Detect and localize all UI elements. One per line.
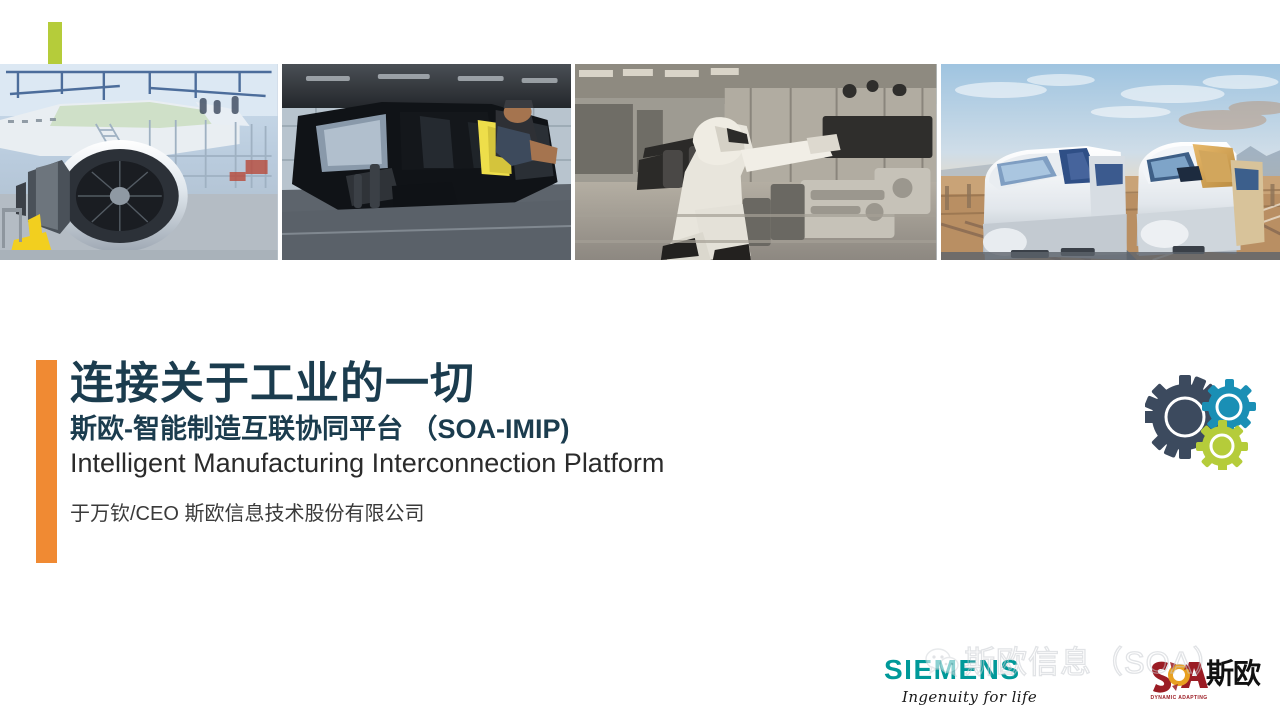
title-block: 连接关于工业的一切 斯欧-智能制造互联协同平台 （SOA-IMIP) Intel… xyxy=(70,360,1110,527)
subtitle-english: Intelligent Manufacturing Interconnectio… xyxy=(70,447,1110,479)
green-accent-tick xyxy=(48,22,62,68)
hero-panel-electronics-cleanroom xyxy=(575,64,936,260)
hero-panel-rail-high-speed-train xyxy=(941,64,1280,260)
hero-image-band xyxy=(0,64,1280,260)
hero-panel-automotive-assembly xyxy=(282,64,572,260)
soa-chinese-name: 斯欧 xyxy=(1206,660,1260,688)
siemens-tagline: Ingenuity for life xyxy=(902,688,1060,706)
soa-mark-subtitle: DYNAMIC ADAPTING xyxy=(1150,695,1207,701)
slide-root: 连接关于工业的一切 斯欧-智能制造互联协同平台 （SOA-IMIP) Intel… xyxy=(0,0,1280,720)
siemens-wordmark: SIEMENS xyxy=(884,656,1060,684)
soa-logo: DYNAMIC ADAPTING 斯欧 xyxy=(1148,654,1272,706)
hero-panel-aerospace-assembly xyxy=(0,64,278,260)
siemens-logo: SIEMENS Ingenuity for life xyxy=(884,656,1060,706)
footer-logos: SIEMENS Ingenuity for life DYNAMIC ADAP xyxy=(0,640,1280,720)
soa-mark-icon: DYNAMIC ADAPTING xyxy=(1148,658,1210,702)
page-title: 连接关于工业的一切 xyxy=(70,360,1110,408)
title-orange-bar xyxy=(36,360,57,563)
subtitle-chinese: 斯欧-智能制造互联协同平台 （SOA-IMIP) xyxy=(70,414,1110,445)
presenter-affiliation: 于万钦/CEO 斯欧信息技术股份有限公司 xyxy=(70,501,1110,527)
gears-icon xyxy=(1145,365,1260,470)
